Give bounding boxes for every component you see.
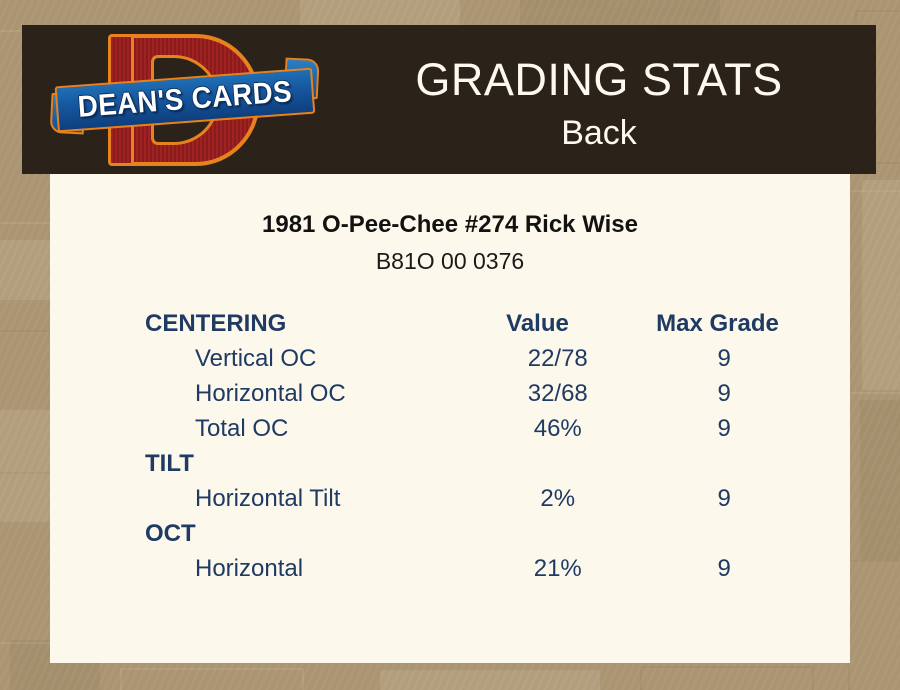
grading-stats-table: CENTERING Value Max Grade Vertical OC 22… xyxy=(145,310,805,590)
section-header-oct: OCT xyxy=(145,520,445,548)
table-header-row: CENTERING Value Max Grade xyxy=(145,310,805,345)
section-header-tilt: TILT xyxy=(145,450,445,478)
row-value: 22/78 xyxy=(472,345,643,373)
column-header-max-grade: Max Grade xyxy=(630,310,805,338)
table-row: Vertical OC 22/78 9 xyxy=(145,345,805,380)
row-grade: 9 xyxy=(643,555,805,583)
section-header-row: OCT xyxy=(145,520,805,555)
section-header-centering: CENTERING xyxy=(145,310,445,338)
row-grade: 9 xyxy=(643,345,805,373)
table-row: Horizontal Tilt 2% 9 xyxy=(145,485,805,520)
row-label: Vertical OC xyxy=(145,345,472,373)
row-value: 46% xyxy=(472,415,643,443)
row-grade: 9 xyxy=(643,415,805,443)
deans-cards-logo[interactable]: DEAN'S CARDS xyxy=(50,29,320,171)
logo-ribbon: DEAN'S CARDS xyxy=(48,63,321,139)
table-row: Horizontal OC 32/68 9 xyxy=(145,380,805,415)
section-header-row: TILT xyxy=(145,450,805,485)
table-row: Horizontal 21% 9 xyxy=(145,555,805,590)
row-value: 2% xyxy=(472,485,643,513)
table-row: Total OC 46% 9 xyxy=(145,415,805,450)
row-value: 21% xyxy=(472,555,643,583)
row-label: Horizontal OC xyxy=(145,380,472,408)
card-title: 1981 O-Pee-Chee #274 Rick Wise xyxy=(50,211,850,239)
row-label: Horizontal Tilt xyxy=(145,485,472,513)
column-header-value: Value xyxy=(445,310,630,338)
page-subtitle: Back xyxy=(322,113,876,153)
row-value: 32/68 xyxy=(472,380,643,408)
header-band: DEAN'S CARDS GRADING STATS Back xyxy=(22,25,876,174)
logo-text: DEAN'S CARDS xyxy=(59,68,310,132)
content-card: 1981 O-Pee-Chee #274 Rick Wise B81O 00 0… xyxy=(50,174,850,663)
page-title: GRADING STATS xyxy=(322,53,876,107)
row-label: Total OC xyxy=(145,415,472,443)
card-serial-number: B81O 00 0376 xyxy=(50,248,850,275)
row-label: Horizontal xyxy=(145,555,472,583)
row-grade: 9 xyxy=(643,485,805,513)
row-grade: 9 xyxy=(643,380,805,408)
